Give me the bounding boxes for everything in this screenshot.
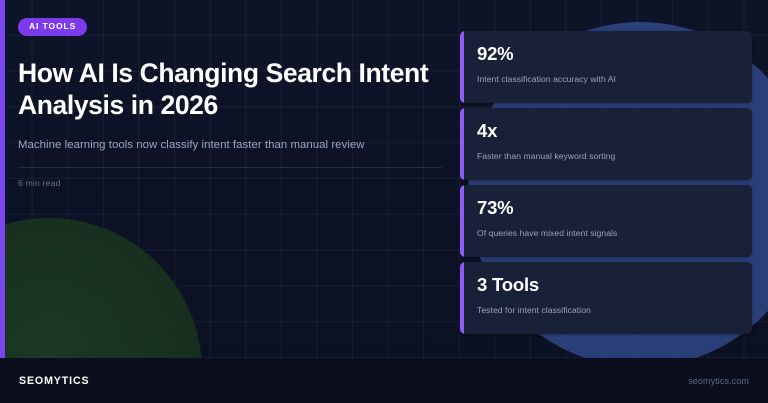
footer-bar: SEOMYTICS seomytics.com — [0, 358, 768, 403]
hero-divider — [18, 167, 442, 168]
stat-card-label: Tested for intent classification — [477, 305, 752, 316]
page-subtitle: Machine learning tools now classify inte… — [18, 137, 448, 154]
stat-card-label: Of queries have mixed intent signals — [477, 228, 752, 239]
brand-wordmark: SEOMYTICS — [19, 375, 90, 387]
stat-card-label: Faster than manual keyword sorting — [477, 151, 752, 162]
stat-card-body: 4x Faster than manual keyword sorting — [464, 108, 752, 180]
category-badge: AI TOOLS — [18, 18, 87, 36]
stat-card-list: 92% Intent classification accuracy with … — [460, 31, 752, 334]
stat-card-value: 92% — [477, 45, 752, 64]
stat-card-value: 4x — [477, 122, 752, 141]
stat-card-body: 92% Intent classification accuracy with … — [464, 31, 752, 103]
hero-section: AI TOOLS How AI Is Changing Search Inten… — [18, 16, 448, 188]
stat-card-body: 73% Of queries have mixed intent signals — [464, 185, 752, 257]
read-time-label: 6 min read — [18, 178, 448, 188]
infographic-canvas: AI TOOLS How AI Is Changing Search Inten… — [0, 0, 768, 403]
stat-card: 3 Tools Tested for intent classification — [460, 262, 752, 334]
left-edge-accent-bar — [0, 0, 5, 358]
stat-card-value: 3 Tools — [477, 276, 752, 295]
stat-card: 92% Intent classification accuracy with … — [460, 31, 752, 103]
site-url-label: seomytics.com — [688, 376, 749, 386]
page-title: How AI Is Changing Search Intent Analysi… — [18, 57, 433, 123]
stat-card-body: 3 Tools Tested for intent classification — [464, 262, 752, 334]
stat-card-label: Intent classification accuracy with AI — [477, 74, 752, 85]
stat-card-value: 73% — [477, 199, 752, 218]
stat-card: 4x Faster than manual keyword sorting — [460, 108, 752, 180]
stat-card: 73% Of queries have mixed intent signals — [460, 185, 752, 257]
